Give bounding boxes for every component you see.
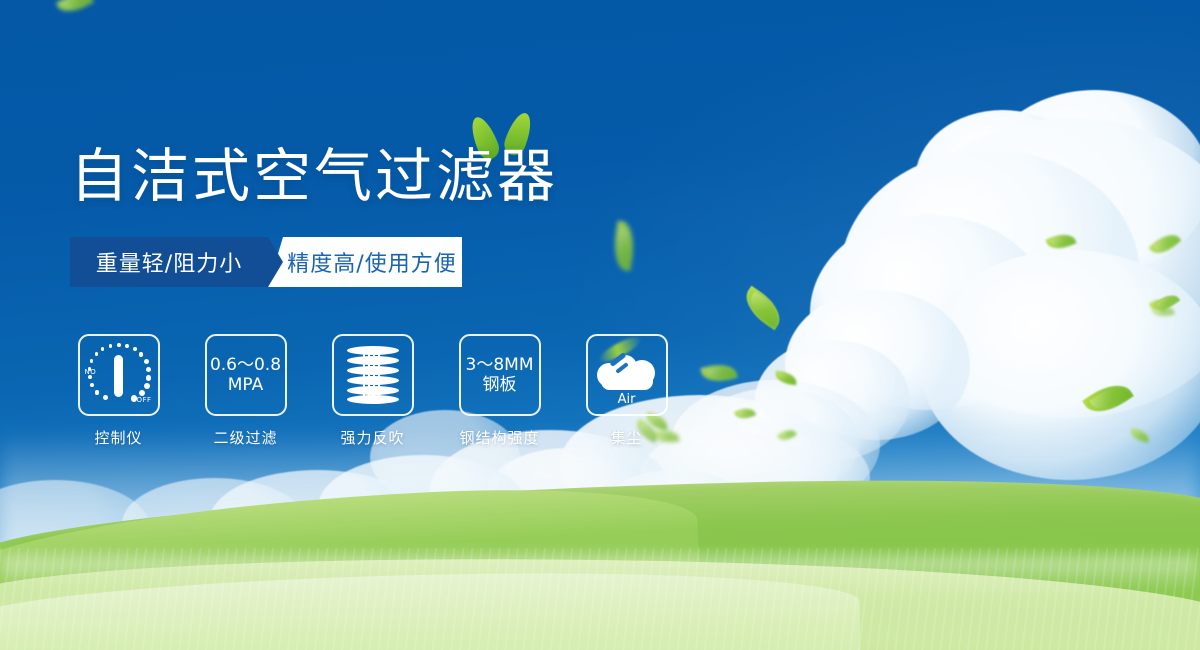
steel-plate-icon: 3～8MM 钢板 (466, 355, 534, 395)
feature-tagline: 重量轻/阻力小 精度高/使用方便 (70, 237, 462, 287)
feature-label: 钢结构强度 (451, 427, 548, 448)
page-title: 自洁式空气过滤器 (70, 140, 558, 212)
feature-item-dust-collection[interactable]: Air 集尘 (578, 334, 675, 448)
feature-icon-box (332, 334, 414, 416)
feature-icon-box: 3～8MM 钢板 (459, 334, 541, 416)
feature-item-backblow[interactable]: 强力反吹 (324, 334, 421, 448)
pressure-unit: MPA (210, 375, 281, 395)
feature-item-pressure[interactable]: 0.6～0.8 MPA 二级过滤 (197, 334, 294, 448)
pressure-range: 0.6～0.8 (210, 355, 281, 375)
feature-label: 强力反吹 (324, 427, 421, 448)
pressure-value-icon: 0.6～0.8 MPA (210, 355, 281, 395)
feature-label: 集尘 (578, 427, 675, 448)
feature-icon-box: 0.6～0.8 MPA (205, 334, 287, 416)
gauge-dial-icon: NO OFF (86, 342, 152, 408)
gauge-label-no: NO (85, 368, 97, 376)
gauge-label-off: OFF (136, 396, 151, 404)
feature-item-control-gauge[interactable]: NO OFF 控制仪 (70, 334, 167, 448)
feature-list: NO OFF 控制仪 0.6～0.8 MPA 二级过滤 (70, 334, 675, 448)
feature-item-steel-plate[interactable]: 3～8MM 钢板 钢结构强度 (451, 334, 548, 448)
product-banner: 自洁式空气过滤器 重量轻/阻力小 精度高/使用方便 (0, 0, 1200, 650)
tag-secondary: 精度高/使用方便 (268, 237, 462, 287)
steel-material: 钢板 (466, 375, 534, 395)
cloud-base (601, 373, 653, 390)
tag-primary: 重量轻/阻力小 (70, 237, 268, 287)
filter-cartridge-icon (347, 346, 399, 404)
feature-label: 控制仪 (70, 427, 167, 448)
air-label: Air (595, 392, 659, 407)
grass-texture (0, 548, 1200, 650)
feature-label: 二级过滤 (197, 427, 294, 448)
feature-icon-box: NO OFF (78, 334, 160, 416)
gauge-needle-icon (114, 355, 123, 397)
feature-icon-box: Air (586, 334, 668, 416)
air-cloud-icon: Air (595, 347, 659, 403)
steel-thickness: 3～8MM (466, 355, 534, 375)
